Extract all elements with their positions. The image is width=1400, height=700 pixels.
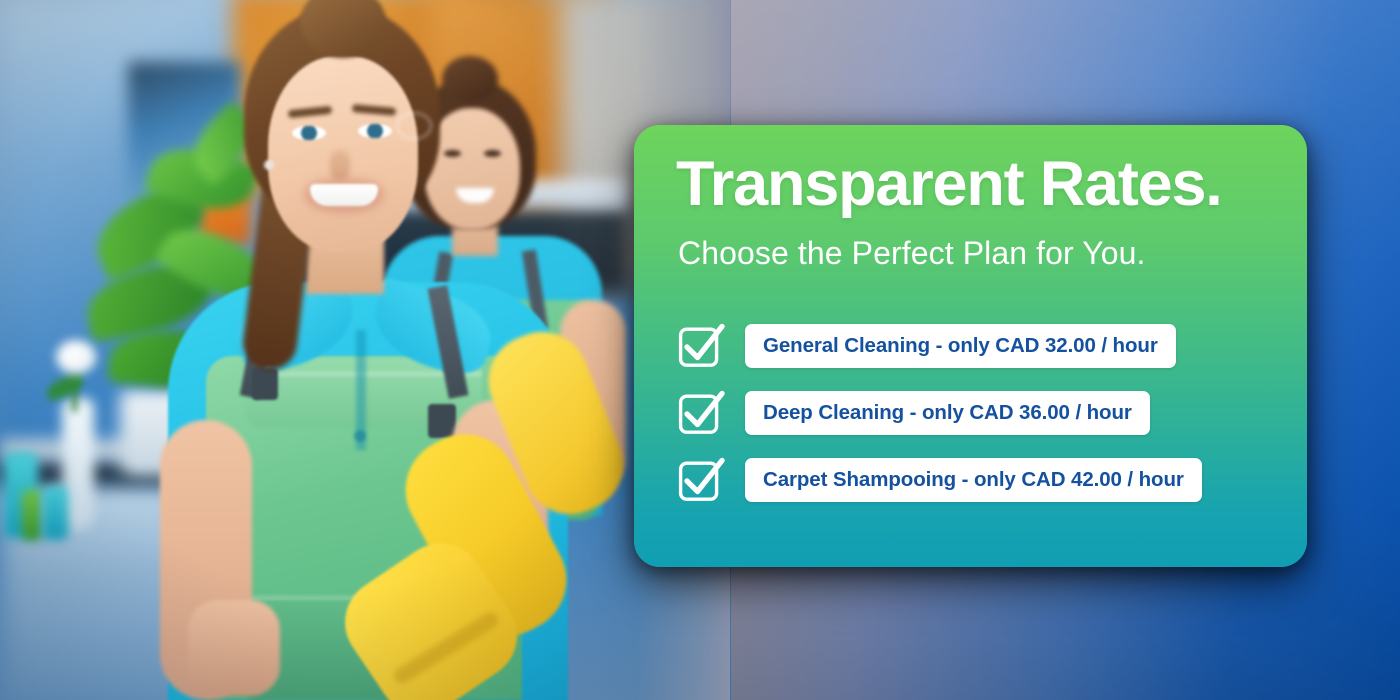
page-title: Transparent Rates. [676, 153, 1222, 216]
cleaners-photo [0, 0, 730, 700]
checkmark-icon[interactable] [678, 458, 723, 503]
list-item[interactable]: General Cleaning - only CAD 32.00 / hour [678, 323, 1278, 369]
plan-label[interactable]: Carpet Shampooing - only CAD 42.00 / hou… [745, 458, 1202, 502]
plan-list: General Cleaning - only CAD 32.00 / hour… [678, 323, 1278, 524]
list-item[interactable]: Deep Cleaning - only CAD 36.00 / hour [678, 390, 1278, 436]
plan-label[interactable]: General Cleaning - only CAD 32.00 / hour [745, 324, 1176, 368]
banner-stage: Transparent Rates. Choose the Perfect Pl… [0, 0, 1400, 700]
list-item[interactable]: Carpet Shampooing - only CAD 42.00 / hou… [678, 457, 1278, 503]
checkmark-icon[interactable] [678, 324, 723, 369]
checkmark-icon[interactable] [678, 391, 723, 436]
photo-vignette [0, 0, 730, 700]
card-subtitle: Choose the Perfect Plan for You. [678, 237, 1146, 269]
plan-label[interactable]: Deep Cleaning - only CAD 36.00 / hour [745, 391, 1150, 435]
pricing-card: Transparent Rates. Choose the Perfect Pl… [634, 125, 1307, 567]
